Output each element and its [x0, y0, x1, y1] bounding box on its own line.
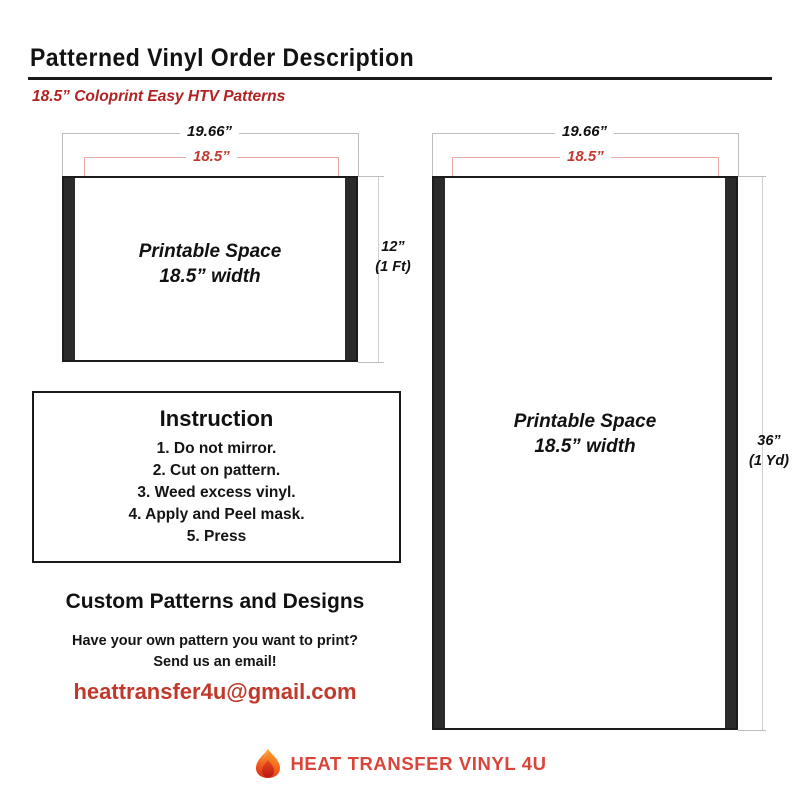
flame-icon — [253, 748, 283, 780]
right-height-sub: (1 Yd) — [749, 453, 789, 469]
right-height-tick-bottom — [738, 730, 766, 731]
custom-patterns-prompt: Have your own pattern you want to print?… — [0, 631, 430, 673]
left-outer-dim-tick-end — [358, 133, 359, 176]
custom-prompt-line1: Have your own pattern you want to print? — [72, 633, 358, 649]
page-title: Patterned Vinyl Order Description — [30, 44, 414, 73]
instruction-step: 5. Press — [34, 526, 399, 548]
instruction-box: Instruction 1. Do not mirror. 2. Cut on … — [32, 391, 401, 563]
instruction-title: Instruction — [34, 406, 399, 432]
title-divider — [28, 77, 772, 80]
right-inner-dim-tick-start — [452, 157, 453, 177]
right-height-value: 36” — [757, 433, 780, 449]
instruction-step: 3. Weed excess vinyl. — [34, 482, 399, 504]
left-height-tick-top — [358, 176, 384, 177]
order-description-page: Patterned Vinyl Order Description 18.5” … — [0, 0, 800, 800]
custom-patterns-heading: Custom Patterns and Designs — [0, 590, 430, 614]
printable-sheet-12in: Printable Space 18.5” width — [62, 176, 358, 362]
printable-space-line1: Printable Space — [514, 411, 657, 432]
right-outer-width-label: 19.66” — [555, 123, 614, 140]
right-outer-dim-tick-end — [738, 133, 739, 176]
left-outer-width-label: 19.66” — [180, 123, 239, 140]
printable-space-label-12in: Printable Space 18.5” width — [64, 240, 356, 289]
left-inner-dim-tick-start — [84, 157, 85, 177]
right-height-label: 36” (1 Yd) — [742, 432, 796, 471]
instruction-step: 1. Do not mirror. — [34, 438, 399, 460]
footer-logo: HEAT TRANSFER VINYL 4U — [0, 748, 800, 780]
left-outer-dim-tick-start — [62, 133, 63, 176]
left-height-sub: (1 Ft) — [375, 259, 410, 275]
right-outer-dim-tick-start — [432, 133, 433, 176]
printable-space-line1: Printable Space — [139, 241, 282, 262]
right-height-tick-top — [738, 176, 766, 177]
printable-space-label-36in: Printable Space 18.5” width — [434, 410, 736, 459]
printable-sheet-36in: Printable Space 18.5” width — [432, 176, 738, 730]
instruction-step: 2. Cut on pattern. — [34, 460, 399, 482]
left-inner-width-label: 18.5” — [186, 148, 237, 165]
brand-name: HEAT TRANSFER VINYL 4U — [290, 753, 546, 775]
left-height-label: 12” (1 Ft) — [368, 238, 418, 277]
left-inner-dim-tick-end — [338, 157, 339, 177]
left-height-tick-bottom — [358, 362, 384, 363]
page-subtitle: 18.5” Coloprint Easy HTV Patterns — [32, 88, 285, 106]
custom-prompt-line2: Send us an email! — [153, 654, 276, 670]
right-inner-width-label: 18.5” — [560, 148, 611, 165]
left-height-value: 12” — [381, 239, 404, 255]
contact-email[interactable]: heattransfer4u@gmail.com — [0, 679, 430, 705]
printable-space-line2: 18.5” width — [159, 266, 260, 287]
instruction-list: 1. Do not mirror. 2. Cut on pattern. 3. … — [34, 438, 399, 548]
right-inner-dim-tick-end — [718, 157, 719, 177]
printable-space-line2: 18.5” width — [534, 436, 635, 457]
instruction-step: 4. Apply and Peel mask. — [34, 504, 399, 526]
